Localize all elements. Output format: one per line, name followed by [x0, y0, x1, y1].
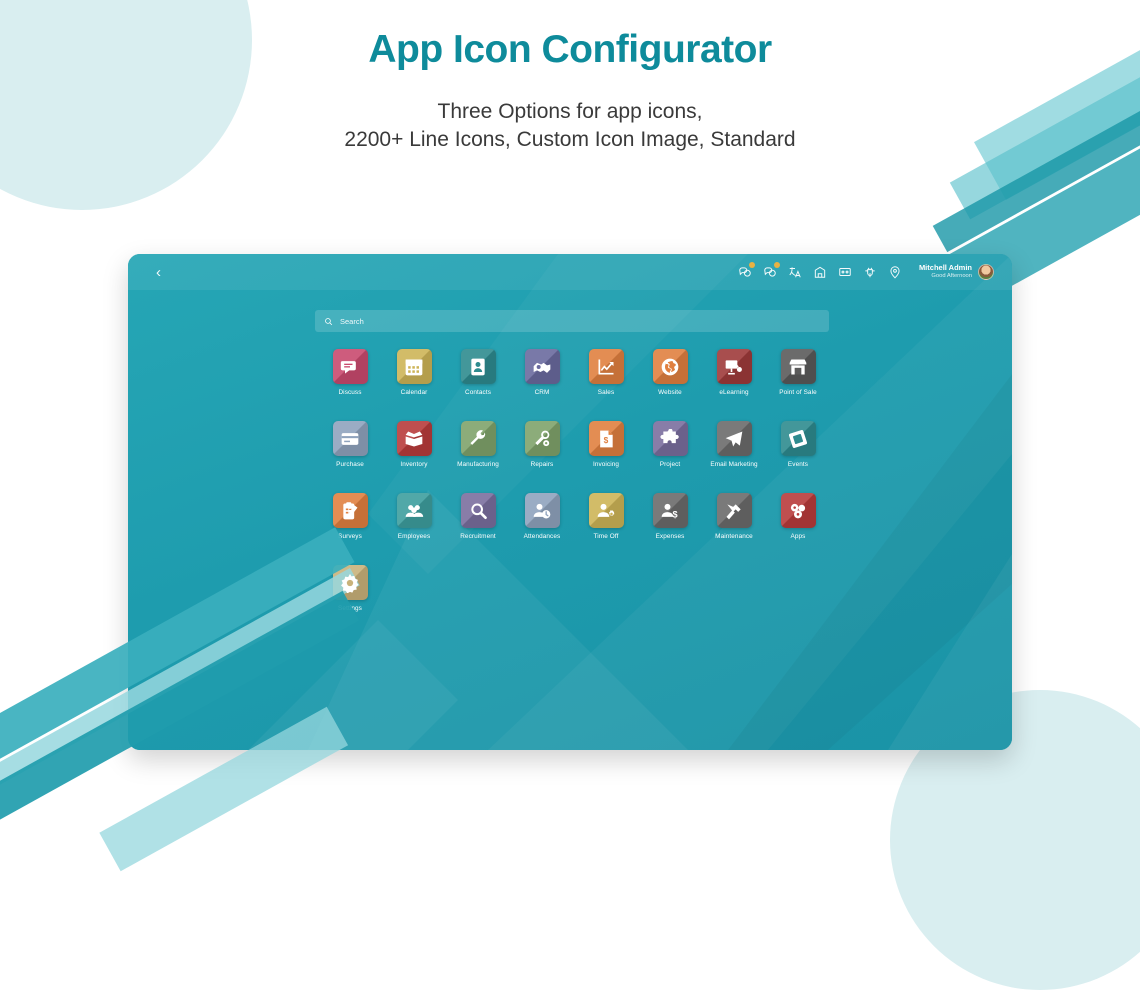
user-menu[interactable]: Mitchell Admin Good Afternoon [919, 264, 994, 280]
storefront-icon[interactable] [781, 349, 816, 384]
location-pin-icon[interactable] [888, 265, 902, 279]
app-label: Repairs [531, 461, 554, 468]
systray: Mitchell Admin Good Afternoon [738, 264, 994, 280]
open-box-icon[interactable] [397, 421, 432, 456]
handshake-icon[interactable] [525, 349, 560, 384]
app-label: Point of Sale [779, 389, 817, 396]
app-label: Events [788, 461, 808, 468]
app-label: Purchase [336, 461, 364, 468]
messages-icon[interactable] [738, 265, 752, 279]
svg-text:$: $ [672, 509, 677, 519]
app-item-email-marketing[interactable]: Email Marketing [702, 421, 766, 468]
search-icon [324, 317, 333, 326]
app-item-expenses[interactable]: $Expenses [638, 493, 702, 540]
app-label: Contacts [465, 389, 491, 396]
puzzle-icon[interactable] [653, 421, 688, 456]
people-icon[interactable] [397, 493, 432, 528]
app-item-inventory[interactable]: Inventory [382, 421, 446, 468]
activities-icon[interactable] [763, 265, 777, 279]
app-label: Employees [398, 533, 431, 540]
search-placeholder: Search [340, 317, 364, 326]
page-title: App Icon Configurator [0, 28, 1140, 72]
app-item-point-of-sale[interactable]: Point of Sale [766, 349, 830, 396]
activities-badge [774, 262, 780, 268]
presentation-icon[interactable] [717, 349, 752, 384]
svg-text:$: $ [604, 435, 609, 445]
user-texts: Mitchell Admin Good Afternoon [919, 264, 972, 279]
blocks-icon[interactable] [781, 493, 816, 528]
gallery-icon[interactable] [838, 265, 852, 279]
user-name: Mitchell Admin [919, 264, 972, 273]
wrench-gear-icon[interactable] [525, 421, 560, 456]
messages-badge [749, 262, 755, 268]
window-topbar: ‹ [128, 254, 1012, 290]
back-button[interactable]: ‹ [156, 265, 161, 280]
app-item-recruitment[interactable]: Recruitment [446, 493, 510, 540]
app-item-time-off[interactable]: Time Off [574, 493, 638, 540]
app-item-attendances[interactable]: Attendances [510, 493, 574, 540]
app-label: Attendances [524, 533, 561, 540]
app-label: Discuss [338, 389, 361, 396]
subtitle-line-2: 2200+ Line Icons, Custom Icon Image, Sta… [0, 126, 1140, 154]
app-label: Time Off [594, 533, 619, 540]
person-clock-icon[interactable] [525, 493, 560, 528]
person-dollar-icon[interactable]: $ [653, 493, 688, 528]
app-item-events[interactable]: Events [766, 421, 830, 468]
app-label: eLearning [719, 389, 748, 396]
app-label: Manufacturing [457, 461, 499, 468]
app-label: Apps [791, 533, 806, 540]
app-label: Invoicing [593, 461, 619, 468]
trend-chart-icon[interactable] [589, 349, 624, 384]
globe-icon[interactable] [653, 349, 688, 384]
app-item-crm[interactable]: CRM [510, 349, 574, 396]
app-label: Email Marketing [710, 461, 757, 468]
avatar[interactable] [978, 264, 994, 280]
app-item-sales[interactable]: Sales [574, 349, 638, 396]
app-label: Inventory [400, 461, 427, 468]
calendar-icon[interactable] [397, 349, 432, 384]
app-item-project[interactable]: Project [638, 421, 702, 468]
app-item-contacts[interactable]: Contacts [446, 349, 510, 396]
user-greeting: Good Afternoon [919, 273, 972, 280]
app-item-elearning[interactable]: eLearning [702, 349, 766, 396]
credit-card-icon[interactable] [333, 421, 368, 456]
app-label: Website [658, 389, 682, 396]
company-icon[interactable] [813, 265, 827, 279]
app-item-apps[interactable]: Apps [766, 493, 830, 540]
chat-bubble-icon[interactable] [333, 349, 368, 384]
app-item-calendar[interactable]: Calendar [382, 349, 446, 396]
magnifier-icon[interactable] [461, 493, 496, 528]
page-subtitle: Three Options for app icons, 2200+ Line … [0, 98, 1140, 154]
person-gear-icon[interactable] [589, 493, 624, 528]
paper-plane-icon[interactable] [717, 421, 752, 456]
app-item-purchase[interactable]: Purchase [318, 421, 382, 468]
hammer-icon[interactable] [717, 493, 752, 528]
app-item-discuss[interactable]: Discuss [318, 349, 382, 396]
app-grid: DiscussCalendarContactsCRMSalesWebsiteeL… [318, 349, 838, 612]
bug-icon[interactable] [863, 265, 877, 279]
app-item-invoicing[interactable]: $Invoicing [574, 421, 638, 468]
subtitle-line-1: Three Options for app icons, [0, 98, 1140, 126]
app-item-employees[interactable]: Employees [382, 493, 446, 540]
app-label: Sales [598, 389, 615, 396]
ticket-icon[interactable] [781, 421, 816, 456]
wrench-icon[interactable] [461, 421, 496, 456]
app-item-manufacturing[interactable]: Manufacturing [446, 421, 510, 468]
search-input[interactable]: Search [315, 310, 829, 332]
invoice-icon[interactable]: $ [589, 421, 624, 456]
app-item-repairs[interactable]: Repairs [510, 421, 574, 468]
translate-icon[interactable] [788, 265, 802, 279]
clipboard-icon[interactable] [333, 493, 368, 528]
app-label: Calendar [401, 389, 428, 396]
app-label: Recruitment [460, 533, 496, 540]
decorative-stripes-bottom-left [0, 620, 380, 860]
app-item-website[interactable]: Website [638, 349, 702, 396]
app-label: Expenses [656, 533, 685, 540]
app-label: Project [660, 461, 681, 468]
app-item-maintenance[interactable]: Maintenance [702, 493, 766, 540]
app-label: CRM [535, 389, 550, 396]
banner-header: App Icon Configurator Three Options for … [0, 28, 1140, 154]
contact-card-icon[interactable] [461, 349, 496, 384]
app-label: Maintenance [715, 533, 753, 540]
